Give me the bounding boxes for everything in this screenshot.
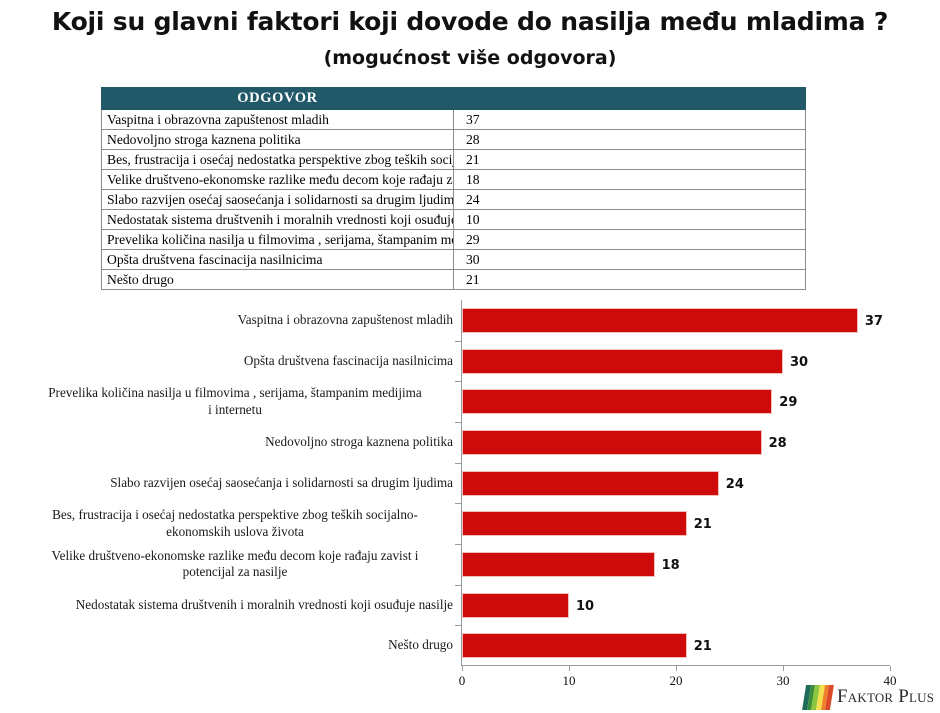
y-axis-tick: [455, 625, 461, 626]
y-axis-tick: [455, 503, 461, 504]
table-row: Nešto drugo21: [102, 270, 806, 290]
table-row: Nedostatak sistema društvenih i moralnih…: [102, 210, 806, 230]
x-axis-tick-label: 0: [459, 673, 466, 689]
table-cell-value: 24: [454, 190, 806, 210]
logo-text: Faktor Plus: [837, 686, 934, 708]
bar: [462, 511, 687, 536]
category-label: Opšta društvena fascinacija nasilnicima: [22, 353, 462, 370]
x-axis-tick: [569, 666, 570, 671]
column-header-value: [454, 88, 806, 110]
table-row: Nedovoljno stroga kaznena politika28: [102, 130, 806, 150]
bar-value-label: 21: [694, 639, 712, 654]
x-axis-tick: [462, 666, 463, 671]
x-axis-tick: [783, 666, 784, 671]
bar: [462, 552, 655, 577]
category-label-line: Nedovoljno stroga kaznena politika: [22, 434, 453, 451]
category-label-line: Opšta društvena fascinacija nasilnicima: [22, 353, 453, 370]
y-axis-tick: [455, 585, 461, 586]
x-axis-tick: [890, 666, 891, 671]
bar-value-label: 29: [779, 395, 797, 410]
table-cell-value: 21: [454, 270, 806, 290]
table-body: Vaspitna i obrazovna zapuštenost mladih3…: [102, 110, 806, 290]
table-row: Vaspitna i obrazovna zapuštenost mladih3…: [102, 110, 806, 130]
table-cell-value: 18: [454, 170, 806, 190]
bar: [462, 308, 858, 333]
table-cell-value: 21: [454, 150, 806, 170]
x-axis-tick: [676, 666, 677, 671]
bar-value-label: 30: [790, 355, 808, 370]
category-label: Velike društveno-ekonomske razlike među …: [22, 548, 462, 581]
category-label: Bes, frustracija i osećaj nedostatka per…: [22, 507, 462, 540]
bar: [462, 471, 719, 496]
table-row: Bes, frustracija i osećaj nedostatka per…: [102, 150, 806, 170]
logo-mark-icon: [802, 685, 834, 710]
category-label-line: ekonomskih uslova života: [22, 524, 448, 541]
answers-table: ODGOVOR Vaspitna i obrazovna zapuštenost…: [101, 87, 806, 290]
table-cell-answer: Bes, frustracija i osećaj nedostatka per…: [102, 150, 454, 170]
category-label: Vaspitna i obrazovna zapuštenost mladih: [22, 312, 462, 329]
page-title: Koji su glavni faktori koji dovode do na…: [0, 8, 940, 37]
category-label-line: potencijal za nasilje: [22, 564, 448, 581]
bar: [462, 593, 569, 618]
table-cell-answer: Slabo razvijen osećaj saosećanja i solid…: [102, 190, 454, 210]
bar: [462, 349, 783, 374]
bar-value-label: 24: [726, 477, 744, 492]
page-subtitle: (mogućnost više odgovora): [0, 47, 940, 69]
bar-value-label: 28: [769, 436, 787, 451]
category-label-line: Nedostatak sistema društvenih i moralnih…: [22, 597, 453, 614]
table-cell-answer: Nešto drugo: [102, 270, 454, 290]
category-label-line: i internetu: [22, 402, 448, 419]
table-header-row: ODGOVOR: [102, 88, 806, 110]
table-cell-answer: Nedovoljno stroga kaznena politika: [102, 130, 454, 150]
table-cell-value: 30: [454, 250, 806, 270]
category-label: Nešto drugo: [22, 637, 462, 654]
table-row: Slabo razvijen osećaj saosećanja i solid…: [102, 190, 806, 210]
category-label-line: Slabo razvijen osećaj saosećanja i solid…: [22, 475, 453, 492]
y-axis-tick: [455, 341, 461, 342]
table-cell-answer: Opšta društvena fascinacija nasilnicima: [102, 250, 454, 270]
x-axis-tick-label: 30: [777, 673, 790, 689]
table-row: Prevelika količina nasilja u filmovima ,…: [102, 230, 806, 250]
y-axis-tick: [455, 422, 461, 423]
column-header-answer: ODGOVOR: [102, 88, 454, 110]
y-axis-tick: [455, 381, 461, 382]
table-cell-value: 28: [454, 130, 806, 150]
x-axis-tick-label: 10: [563, 673, 576, 689]
bar-chart: 373029282421181021 Vaspitna i obrazovna …: [0, 300, 940, 700]
table-row: Opšta društvena fascinacija nasilnicima3…: [102, 250, 806, 270]
table-cell-answer: Velike društveno-ekonomske razlike među …: [102, 170, 454, 190]
table-row: Velike društveno-ekonomske razlike među …: [102, 170, 806, 190]
y-axis-tick: [455, 544, 461, 545]
table-cell-answer: Nedostatak sistema društvenih i moralnih…: [102, 210, 454, 230]
category-label-line: Prevelika količina nasilja u filmovima ,…: [22, 385, 448, 402]
x-axis-tick-label: 20: [670, 673, 683, 689]
category-label-line: Vaspitna i obrazovna zapuštenost mladih: [22, 312, 453, 329]
table-cell-answer: Prevelika količina nasilja u filmovima ,…: [102, 230, 454, 250]
y-axis-tick: [455, 463, 461, 464]
bar-value-label: 21: [694, 517, 712, 532]
bar: [462, 430, 762, 455]
category-label: Slabo razvijen osećaj saosećanja i solid…: [22, 475, 462, 492]
bar-value-label: 18: [662, 558, 680, 573]
table-cell-value: 29: [454, 230, 806, 250]
category-label: Nedovoljno stroga kaznena politika: [22, 434, 462, 451]
bar: [462, 633, 687, 658]
bar-value-label: 37: [865, 314, 883, 329]
bar-value-label: 10: [576, 599, 594, 614]
category-label-line: Nešto drugo: [22, 637, 453, 654]
category-label-line: Bes, frustracija i osećaj nedostatka per…: [22, 507, 448, 524]
title-block: Koji su glavni faktori koji dovode do na…: [0, 8, 940, 69]
category-label-line: Velike društveno-ekonomske razlike među …: [22, 548, 448, 565]
category-label: Prevelika količina nasilja u filmovima ,…: [22, 385, 462, 418]
category-label: Nedostatak sistema društvenih i moralnih…: [22, 597, 462, 614]
faktor-plus-logo: Faktor Plus: [804, 684, 934, 710]
bar: [462, 389, 772, 414]
chart-plot-area: 373029282421181021: [462, 300, 890, 666]
table-cell-answer: Vaspitna i obrazovna zapuštenost mladih: [102, 110, 454, 130]
table-cell-value: 37: [454, 110, 806, 130]
table-cell-value: 10: [454, 210, 806, 230]
table-head: ODGOVOR: [102, 88, 806, 110]
